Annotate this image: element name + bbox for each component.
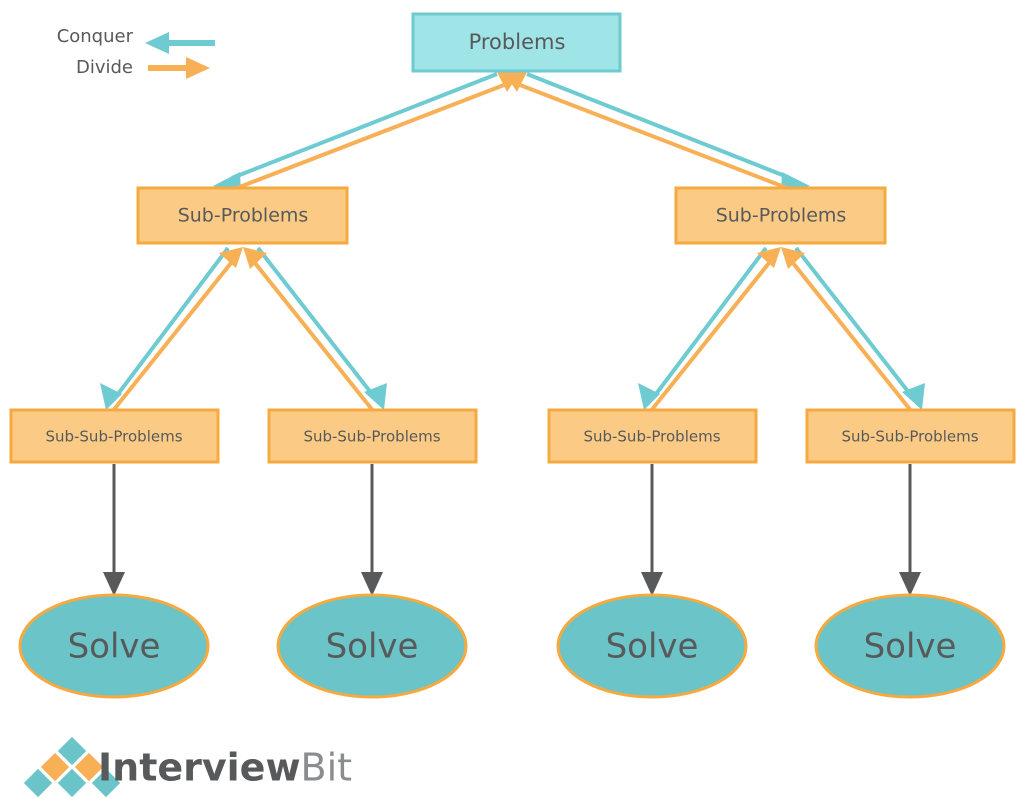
edge-sub-left-to-subsub-2: [258, 248, 387, 410]
node-sub-problems-right[interactable]: Sub-Problems: [676, 188, 885, 243]
node-problems-label: Problems: [469, 30, 566, 54]
node-solve-2-label: Solve: [326, 627, 419, 667]
edge-subsub-4-to-sub-right: [781, 247, 912, 412]
edge-sub-right-to-subsub-4: [796, 248, 925, 410]
node-sub-problems-left[interactable]: Sub-Problems: [138, 188, 347, 243]
edge-root-to-sub-left: [213, 74, 497, 193]
node-sub-problems-left-label: Sub-Problems: [178, 205, 309, 227]
legend-label-conquer: Conquer: [57, 26, 134, 47]
edge-subsub-3-to-sub-right: [650, 247, 781, 412]
edge-subsub-1-to-sub-left: [112, 247, 243, 412]
node-solve-4[interactable]: Solve: [816, 595, 1004, 697]
node-sub-sub-problems-1-label: Sub-Sub-Problems: [45, 428, 182, 446]
brand-name-bold: Interview: [98, 746, 301, 790]
edge-sub-right-to-subsub-3: [638, 248, 766, 410]
edge-subsub-2-to-solve-2: [361, 464, 383, 596]
edge-sub-left-to-root: [224, 70, 520, 193]
brand-logo: InterviewBit: [24, 737, 352, 797]
node-solve-2[interactable]: Solve: [278, 595, 466, 697]
edge-subsub-4-to-solve-4: [899, 464, 921, 596]
node-solve-3-label: Solve: [606, 627, 699, 667]
node-sub-problems-right-label: Sub-Problems: [716, 205, 847, 227]
legend-label-divide: Divide: [76, 57, 133, 78]
node-solve-3[interactable]: Solve: [558, 595, 746, 697]
node-problems[interactable]: Problems: [413, 14, 620, 71]
legend-arrow-right-icon: [148, 57, 210, 79]
node-sub-sub-problems-2[interactable]: Sub-Sub-Problems: [269, 410, 476, 462]
edge-root-to-sub-right: [527, 74, 810, 193]
edge-sub-right-to-root: [504, 70, 800, 193]
divide-and-conquer-diagram: Conquer Divide: [0, 0, 1024, 799]
node-sub-sub-problems-2-label: Sub-Sub-Problems: [303, 428, 440, 446]
node-solve-4-label: Solve: [864, 627, 957, 667]
legend: Conquer Divide: [57, 26, 215, 79]
diagram-canvas: Conquer Divide: [0, 0, 1024, 799]
brand-name-light: Bit: [301, 746, 353, 790]
edge-subsub-2-to-sub-left: [243, 247, 374, 412]
legend-arrow-left-icon: [145, 32, 215, 54]
node-sub-sub-problems-4-label: Sub-Sub-Problems: [841, 428, 978, 446]
edge-sub-left-to-subsub-1: [100, 248, 228, 410]
node-sub-sub-problems-4[interactable]: Sub-Sub-Problems: [807, 410, 1014, 462]
node-solve-1-label: Solve: [68, 627, 161, 667]
node-sub-sub-problems-3-label: Sub-Sub-Problems: [583, 428, 720, 446]
edge-subsub-3-to-solve-3: [641, 464, 663, 596]
node-sub-sub-problems-1[interactable]: Sub-Sub-Problems: [11, 410, 218, 462]
brand-name: InterviewBit: [98, 746, 352, 790]
node-solve-1[interactable]: Solve: [20, 595, 208, 697]
edge-subsub-1-to-solve-1: [103, 464, 125, 596]
node-sub-sub-problems-3[interactable]: Sub-Sub-Problems: [549, 410, 756, 462]
